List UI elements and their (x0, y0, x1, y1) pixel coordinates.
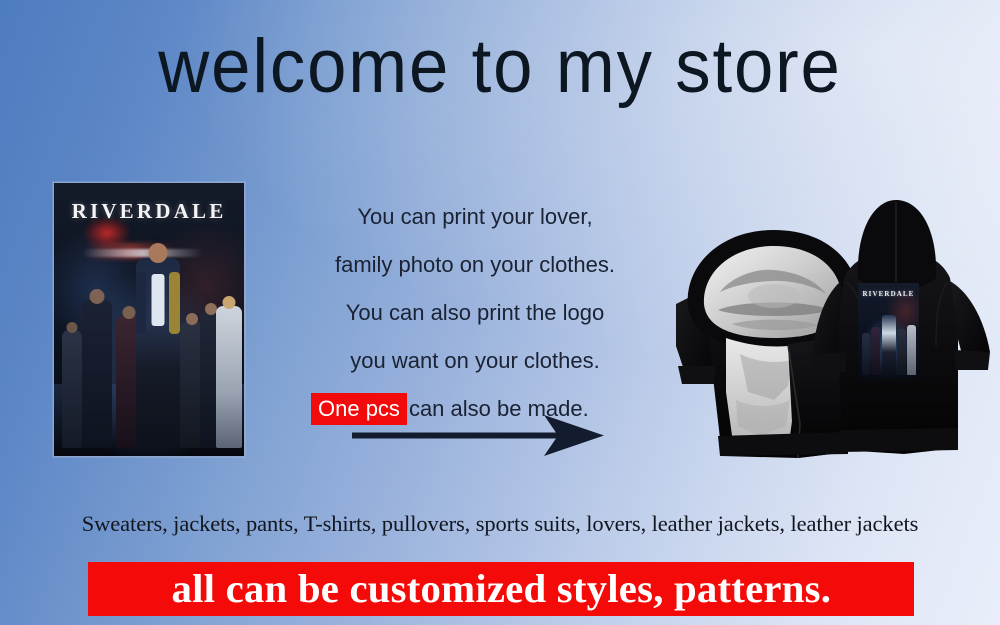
print-figure (862, 333, 870, 375)
copy-line-2: family photo on your clothes. (300, 244, 650, 286)
copy-line-4: you want on your clothes. (300, 340, 650, 382)
print-figure-lead (882, 315, 896, 375)
copy-line-3: You can also print the logo (300, 292, 650, 334)
poster-figure (62, 330, 82, 448)
customization-banner: all can be customized styles, patterns. (88, 562, 914, 616)
customization-banner-text: all can be customized styles, patterns. (171, 567, 831, 611)
print-figure (871, 327, 880, 375)
page-title: welcome to my store (35, 24, 965, 110)
print-figure (897, 329, 906, 375)
poster-figure (216, 306, 242, 448)
poster-figure (82, 300, 112, 448)
product-list-line: Sweaters, jackets, pants, T-shirts, pull… (0, 508, 1000, 540)
hoodie-riverdale-print: RIVERDALE (858, 283, 919, 379)
poster-figure-lead (136, 258, 180, 448)
print-figure (907, 325, 916, 375)
right-arrow-icon (352, 412, 604, 460)
hoodie-product-photo: RIVERDALE (648, 186, 1000, 478)
hoodie-print-title: RIVERDALE (858, 290, 919, 298)
poster-light-band (82, 249, 202, 257)
promo-banner: welcome to my store (0, 0, 1000, 625)
promo-copy: You can print your lover, family photo o… (300, 196, 650, 430)
riverdale-poster: RIVERDALE (53, 182, 245, 457)
copy-line-1: You can print your lover, (300, 196, 650, 238)
poster-title: RIVERDALE (54, 199, 244, 224)
